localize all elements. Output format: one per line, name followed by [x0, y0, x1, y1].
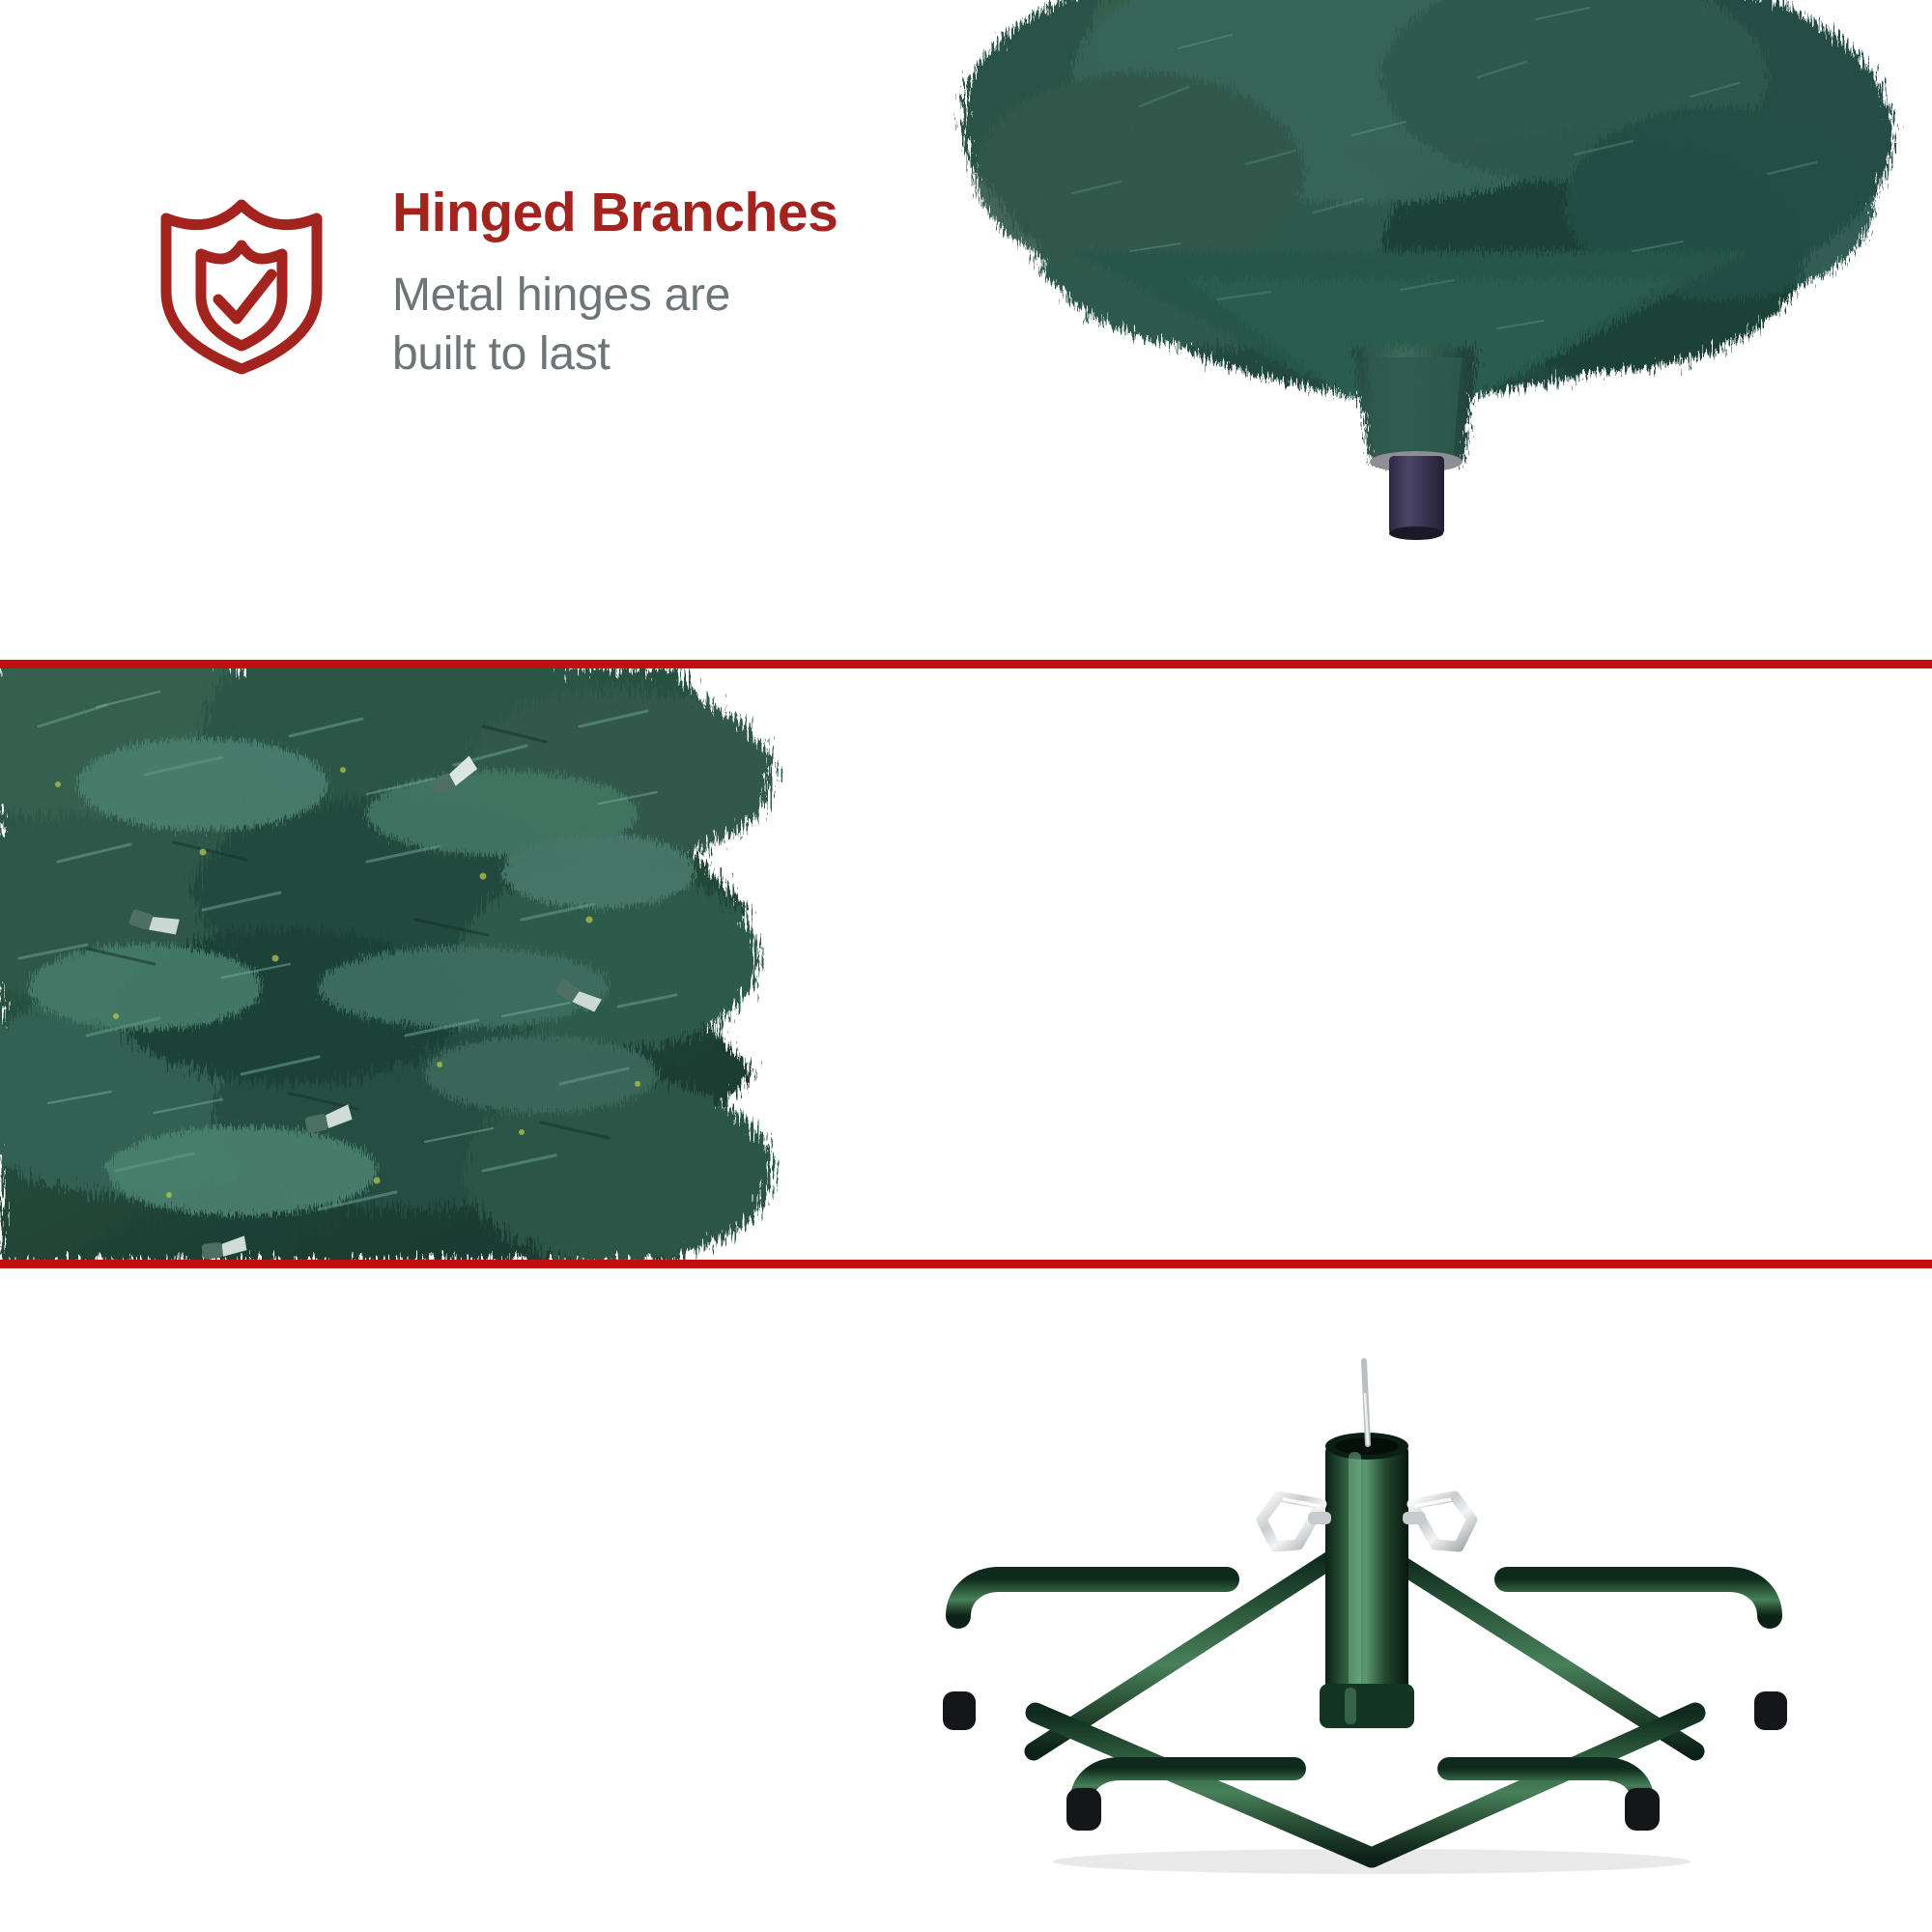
feature-hinged-text: Hinged Branches Metal hinges are built t… [392, 184, 838, 384]
feature-description: Metal hinges are built to last [392, 266, 838, 384]
photo-tree-stand [792, 1297, 1932, 1877]
infographic-page: Hinged Branches Metal hinges are built t… [0, 0, 1932, 1932]
photo-tree-top [898, 0, 1932, 663]
feature-band-hinged-branches: Hinged Branches Metal hinges are built t… [0, 0, 1932, 663]
photo-tree-closeup [0, 668, 903, 1263]
divider-line-top [0, 660, 1932, 668]
feature-band-sturdy-base: Sturdy Base A reliable metal stand for y… [0, 1268, 1932, 1932]
divider-line-bottom [0, 1260, 1932, 1268]
feature-hinged-branches: Hinged Branches Metal hinges are built t… [145, 184, 838, 384]
feature-band-pvc-tips: PVC Tips Flame-retardant and easy to flu… [0, 668, 1932, 1263]
feature-title: Hinged Branches [392, 185, 838, 241]
shield-check-icon [145, 184, 338, 377]
